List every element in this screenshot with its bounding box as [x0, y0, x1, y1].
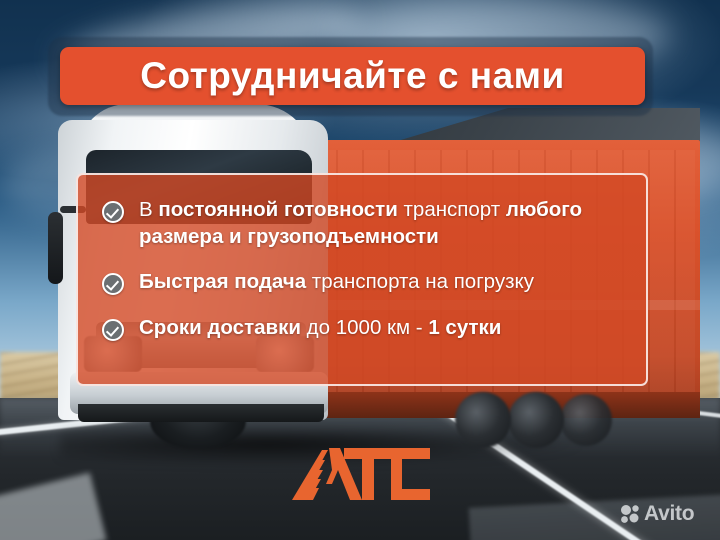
features-panel: В постоянной готовности транспорт любого… — [76, 173, 648, 386]
trailer-wheel — [560, 394, 612, 446]
ats-logo-graphic — [292, 446, 432, 504]
banner-title: Сотрудничайте с нами — [140, 55, 565, 97]
trailer-wheel — [508, 392, 564, 448]
advertisement-image: Сотрудничайте с нами В постоянной готовн… — [0, 0, 720, 540]
feature-bullet-text: Быстрая подача транспорта на погрузку — [139, 269, 534, 296]
avito-logo-icon — [620, 504, 640, 524]
feature-bullet: В постоянной готовности транспорт любого… — [102, 197, 620, 250]
title-banner: Сотрудничайте с нами — [60, 47, 645, 105]
avito-watermark: Avito — [620, 503, 694, 524]
ats-logo — [292, 446, 432, 504]
feature-bullet: Быстрая подача транспорта на погрузку — [102, 269, 620, 296]
avito-wordmark: Avito — [644, 503, 694, 524]
trailer-wheel — [455, 392, 511, 448]
feature-bullet-text: В постоянной готовности транспорт любого… — [139, 197, 620, 250]
feature-bullet: Сроки доставки до 1000 км - 1 сутки — [102, 315, 620, 342]
check-circle-icon — [102, 319, 124, 341]
check-circle-icon — [102, 273, 124, 295]
check-circle-icon — [102, 201, 124, 223]
feature-bullet-text: Сроки доставки до 1000 км - 1 сутки — [139, 315, 501, 342]
cab-bumper-lower — [78, 404, 324, 422]
side-mirror — [48, 212, 63, 284]
